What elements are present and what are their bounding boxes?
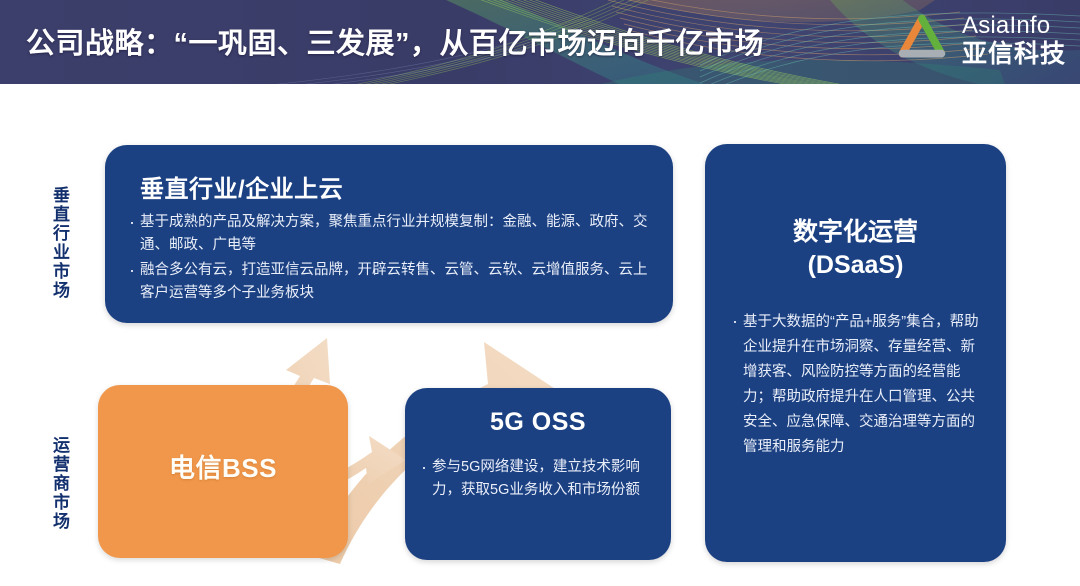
card-vertical-industry-bullets: 基于成熟的产品及解决方案，聚焦重点行业并规模复制：金融、能源、政府、交通、邮政、… <box>129 211 649 307</box>
card-vertical-industry-title: 垂直行业/企业上云 <box>140 169 343 204</box>
asiainfo-triangle-swirl-logo-icon <box>891 9 953 71</box>
card-dsaas[interactable]: 数字化运营 (DSaaS) 基于大数据的“产品+服务”集合，帮助企业提升在市场洞… <box>705 144 1006 562</box>
side-label-vertical-market: 垂直行业市场 <box>40 168 70 318</box>
logo-name-en: AsiaInfo <box>962 14 1066 38</box>
card-5g-oss-bullets: 参与5G网络建设，建立技术影响力，获取5G业务收入和市场份额 <box>421 456 661 504</box>
list-item: 基于成熟的产品及解决方案，聚焦重点行业并规模复制：金融、能源、政府、交通、邮政、… <box>129 211 649 258</box>
side-label-operator-market: 运营商市场 <box>40 418 70 548</box>
list-item: 基于大数据的“产品+服务”集合，帮助企业提升在市场洞察、存量经营、新增获客、风险… <box>732 310 982 460</box>
card-telecom-bss-title: 电信BSS <box>98 448 348 485</box>
list-item: 融合多公有云，打造亚信云品牌，开辟云转售、云管、云软、云增值服务、云上客户运营等… <box>129 259 649 306</box>
list-item: 参与5G网络建设，建立技术影响力，获取5G业务收入和市场份额 <box>421 456 661 503</box>
card-dsaas-title-line2: (DSaaS) <box>705 249 1006 282</box>
card-dsaas-title-line1: 数字化运营 <box>705 216 1006 249</box>
page-header: 公司战略：“一巩固、三发展”，从百亿市场迈向千亿市场 AsiaInfo 亚信科技 <box>0 0 1080 84</box>
card-dsaas-title: 数字化运营 (DSaaS) <box>705 216 1006 282</box>
logo-name-cn: 亚信科技 <box>962 42 1066 67</box>
card-telecom-bss[interactable]: 电信BSS <box>98 385 348 558</box>
asiainfo-logo: AsiaInfo 亚信科技 <box>891 9 1066 71</box>
page-title: 公司战略：“一巩固、三发展”，从百亿市场迈向千亿市场 <box>26 20 764 62</box>
card-vertical-industry[interactable]: 垂直行业/企业上云 基于成熟的产品及解决方案，聚焦重点行业并规模复制：金融、能源… <box>105 145 673 323</box>
card-dsaas-bullets: 基于大数据的“产品+服务”集合，帮助企业提升在市场洞察、存量经营、新增获客、风险… <box>732 310 982 461</box>
card-5g-oss-title: 5G OSS <box>405 408 671 437</box>
card-5g-oss[interactable]: 5G OSS 参与5G网络建设，建立技术影响力，获取5G业务收入和市场份额 <box>405 388 671 560</box>
